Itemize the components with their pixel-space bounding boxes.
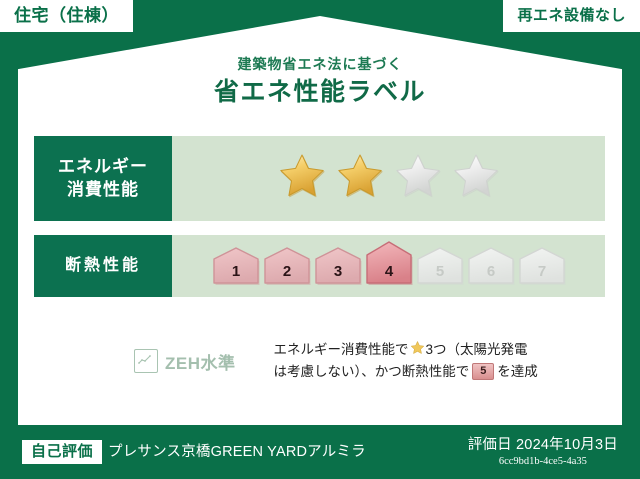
- tag-renewable-equipment: 再エネ設備なし: [503, 0, 640, 32]
- title-block: 建築物省エネ法に基づく 省エネ性能ラベル: [0, 56, 640, 108]
- energy-label-line2: 消費性能: [67, 180, 139, 199]
- star-empty-icon: [394, 152, 442, 205]
- tag-housing-type: 住宅（住棟）: [0, 0, 133, 32]
- insulation-level-filled: 2: [263, 246, 311, 293]
- zeh-mark: ZEH水準: [34, 349, 236, 374]
- note-line1-pre: エネルギー消費性能で: [274, 340, 409, 361]
- star-icon: [410, 340, 425, 362]
- insulation-level-filled: 3: [314, 246, 362, 293]
- svg-text:4: 4: [384, 263, 393, 280]
- note-line2-post: を達成: [497, 362, 538, 383]
- achievement-note: エネルギー消費性能で 3つ（太陽光発電 は考慮しない）、かつ断熱性能で 5 を達…: [236, 340, 606, 383]
- self-evaluation-badge: 自己評価: [22, 440, 102, 464]
- achievement-note-line2: は考慮しない）、かつ断熱性能で 5 を達成: [274, 362, 606, 383]
- title-main: 省エネ性能ラベル: [0, 77, 640, 108]
- star-empty-icon: [452, 152, 500, 205]
- insulation-performance-value: 1234567: [172, 235, 605, 297]
- svg-text:2: 2: [282, 263, 290, 280]
- label-id: 6cc9bd1b-4ce5-4a35: [468, 455, 618, 469]
- note-line1-post: 3つ（太陽光発電: [426, 340, 528, 361]
- svg-text:7: 7: [537, 263, 545, 280]
- insulation-level-filled: 1: [212, 246, 260, 293]
- note-line2-pre: は考慮しない）、かつ断熱性能で: [274, 362, 470, 383]
- zeh-note-block: ZEH水準 エネルギー消費性能で 3つ（太陽光発電 は考慮しない）、かつ断熱性能…: [34, 326, 605, 396]
- evaluation-date: 評価日 2024年10月3日: [468, 436, 618, 455]
- svg-text:5: 5: [435, 263, 443, 280]
- energy-consumption-label: エネルギー 消費性能: [34, 136, 172, 221]
- energy-label-line1: エネルギー: [58, 157, 148, 176]
- footer-left: 自己評価 プレサンス京橋GREEN YARDアルミラ: [22, 440, 366, 464]
- title-subtitle: 建築物省エネ法に基づく: [0, 56, 640, 73]
- svg-text:3: 3: [333, 263, 341, 280]
- insulation-level-filled: 4: [365, 240, 413, 293]
- energy-consumption-value: [172, 136, 605, 221]
- insulation-level-empty: 6: [467, 246, 515, 293]
- svg-text:6: 6: [486, 263, 494, 280]
- insulation-level-scale: 1234567: [212, 240, 566, 293]
- insulation-grade-badge: 5: [472, 363, 494, 380]
- star-filled-icon: [278, 152, 326, 205]
- energy-performance-label: 住宅（住棟） 再エネ設備なし 建築物省エネ法に基づく 省エネ性能ラベル エネルギ…: [0, 0, 640, 479]
- star-filled-icon: [336, 152, 384, 205]
- insulation-level-empty: 5: [416, 246, 464, 293]
- insulation-performance-label: 断熱性能: [34, 235, 172, 297]
- star-rating: [278, 152, 500, 205]
- achievement-note-line1: エネルギー消費性能で 3つ（太陽光発電: [274, 340, 606, 362]
- insulation-level-empty: 7: [518, 246, 566, 293]
- zeh-label: ZEH水準: [165, 349, 236, 374]
- svg-text:1: 1: [231, 263, 239, 280]
- property-name: プレサンス京橋GREEN YARDアルミラ: [108, 445, 366, 460]
- footer-right: 評価日 2024年10月3日 6cc9bd1b-4ce5-4a35: [468, 436, 618, 469]
- insulation-performance-row: 断熱性能 1234567: [34, 235, 605, 297]
- zeh-chart-icon: [134, 349, 158, 373]
- energy-consumption-row: エネルギー 消費性能: [34, 136, 605, 221]
